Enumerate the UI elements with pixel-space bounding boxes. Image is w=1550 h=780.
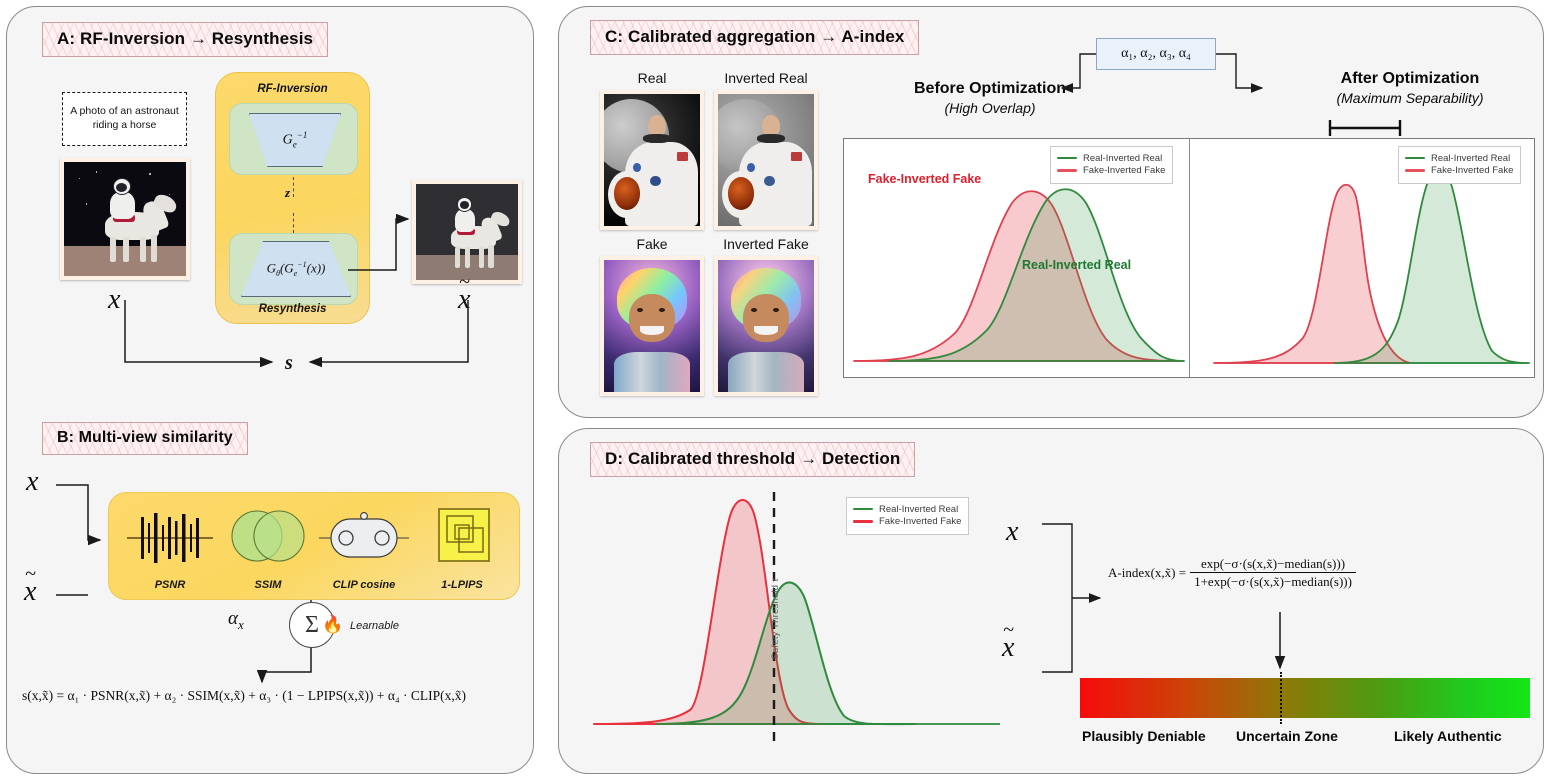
thumb-caption-inverted-fake: Inverted Fake xyxy=(714,236,818,252)
legend-chart-before: Real-Inverted Real Fake-Inverted Fake xyxy=(1050,146,1173,184)
thumbnail-fake xyxy=(600,256,704,396)
a-index-formula: A-index(x,x̃) = exp(−σ·(s(x,x̃)−median(s… xyxy=(1108,556,1356,590)
thumbnail-real xyxy=(600,90,704,230)
rf-inversion-label: RF-Inversion xyxy=(216,83,369,95)
latent-z-label: z xyxy=(285,185,290,201)
legend-chart-d: Real-Inverted Real Fake-Inverted Fake xyxy=(846,497,969,535)
legend-label-real: Real-Inverted Real xyxy=(1431,153,1510,164)
metric-1-lpips: 1-LPIPS xyxy=(413,501,511,593)
venn-circles-icon xyxy=(219,505,317,567)
similarity-equation: s(x,x̃) = α₁ · PSNR(x,x̃) + α₂ · SSIM(x,… xyxy=(22,688,466,704)
legend-chart-after: Real-Inverted Real Fake-Inverted Fake xyxy=(1398,146,1521,184)
metric-clip-label: CLIP cosine xyxy=(315,579,413,591)
alpha-weight-label: αx xyxy=(228,608,244,633)
legend-swatch-real xyxy=(853,508,873,511)
chart-after xyxy=(1214,168,1530,363)
clip-capsule-icon xyxy=(315,505,413,567)
rf-inversion-module: RF-Inversion Ge−1 Gθ(Ge−1(x)) Resynthesi… xyxy=(215,72,370,324)
metric-lpips-label: 1-LPIPS xyxy=(413,579,511,591)
learnable-label: Learnable xyxy=(350,620,399,632)
after-optimization-title: After Optimization xyxy=(1280,70,1540,88)
formula-denominator: 1+exp(−σ·(s(x,x̃)−median(s))) xyxy=(1190,572,1356,589)
thumbnail-inverted-fake xyxy=(714,256,818,396)
legend-row-fake: Fake-Inverted Fake xyxy=(853,516,961,527)
legend-swatch-fake xyxy=(853,520,873,523)
nested-squares-icon xyxy=(413,505,511,567)
legend-row-real: Real-Inverted Real xyxy=(853,504,961,515)
legend-label-fake: Fake-Inverted Fake xyxy=(879,516,961,527)
panel-b-label-x: x xyxy=(26,466,38,498)
metric-psnr: PSNR xyxy=(121,501,219,593)
metrics-container: PSNR SSIM CLIP cosine xyxy=(108,492,520,600)
before-optimization-title: Before Optimization xyxy=(880,80,1100,98)
prompt-textbox: A photo of an astronaut riding a horse xyxy=(62,92,187,146)
formula-lhs: A-index(x,x̃) = xyxy=(1108,565,1186,581)
annotation-fake-inverted-fake: Fake-Inverted Fake xyxy=(868,172,981,186)
legend-swatch-real xyxy=(1057,157,1077,160)
panel-b-title-badge: B: Multi-view similarity xyxy=(42,422,248,455)
output-image-x-tilde xyxy=(412,180,522,284)
alpha-parameters-box: α₁, α₂, α₃, α₄ xyxy=(1096,38,1216,70)
label-x-tilde: ~x xyxy=(458,284,470,316)
thumbnail-inverted-real xyxy=(714,90,818,230)
formula-fraction: exp(−σ·(s(x,x̃)−median(s))) 1+exp(−σ·(s(… xyxy=(1190,556,1356,590)
zone-label-plausibly-deniable: Plausibly Deniable xyxy=(1082,728,1206,744)
legend-swatch-real xyxy=(1405,157,1425,160)
legend-swatch-fake xyxy=(1405,169,1425,172)
legend-label-fake: Fake-Inverted Fake xyxy=(1431,165,1513,176)
safety-threshold-label: Safety Threshold τ xyxy=(770,578,781,660)
panel-a-title-badge: A: RF-Inversion → Resynthesis xyxy=(42,22,328,57)
flame-icon: 🔥 xyxy=(322,616,343,633)
chart-before xyxy=(854,189,1184,361)
legend-row-real: Real-Inverted Real xyxy=(1057,153,1165,164)
legend-label-fake: Fake-Inverted Fake xyxy=(1083,165,1165,176)
after-optimization-subtitle: (Maximum Separability) xyxy=(1280,90,1540,106)
legend-label-real: Real-Inverted Real xyxy=(1083,153,1162,164)
legend-swatch-fake xyxy=(1057,169,1077,172)
thumb-caption-fake: Fake xyxy=(600,236,704,252)
chart-divider xyxy=(1189,139,1190,377)
panel-c-title-badge: C: Calibrated aggregation → A-index xyxy=(590,20,919,55)
legend-row-real: Real-Inverted Real xyxy=(1405,153,1513,164)
zone-label-uncertain: Uncertain Zone xyxy=(1236,728,1338,744)
label-x: x xyxy=(108,284,120,316)
a-index-gradient-bar xyxy=(1080,678,1530,718)
uncertain-zone-marker xyxy=(1280,672,1282,724)
resynthesis-label: Resynthesis xyxy=(216,303,369,315)
panel-b-label-x-tilde: ~x xyxy=(24,576,36,608)
thumb-caption-real: Real xyxy=(600,70,704,86)
before-optimization-subtitle: (High Overlap) xyxy=(880,100,1100,116)
panel-d-label-x-tilde: ~x xyxy=(1002,632,1014,664)
legend-label-real: Real-Inverted Real xyxy=(879,504,958,515)
legend-row-fake: Fake-Inverted Fake xyxy=(1057,165,1165,176)
formula-numerator: exp(−σ·(s(x,x̃)−median(s))) xyxy=(1197,556,1349,572)
thumb-caption-inverted-real: Inverted Real xyxy=(714,70,818,86)
input-image-x xyxy=(60,158,190,280)
signal-bars-icon xyxy=(121,505,219,567)
panel-d-label-x: x xyxy=(1006,516,1018,548)
metric-ssim: SSIM xyxy=(219,501,317,593)
metric-clip-cosine: CLIP cosine xyxy=(315,501,413,593)
legend-row-fake: Fake-Inverted Fake xyxy=(1405,165,1513,176)
zone-label-likely-authentic: Likely Authentic xyxy=(1394,728,1502,744)
metric-ssim-label: SSIM xyxy=(219,579,317,591)
metric-psnr-label: PSNR xyxy=(121,579,219,591)
annotation-real-inverted-real: Real-Inverted Real xyxy=(1022,258,1131,272)
